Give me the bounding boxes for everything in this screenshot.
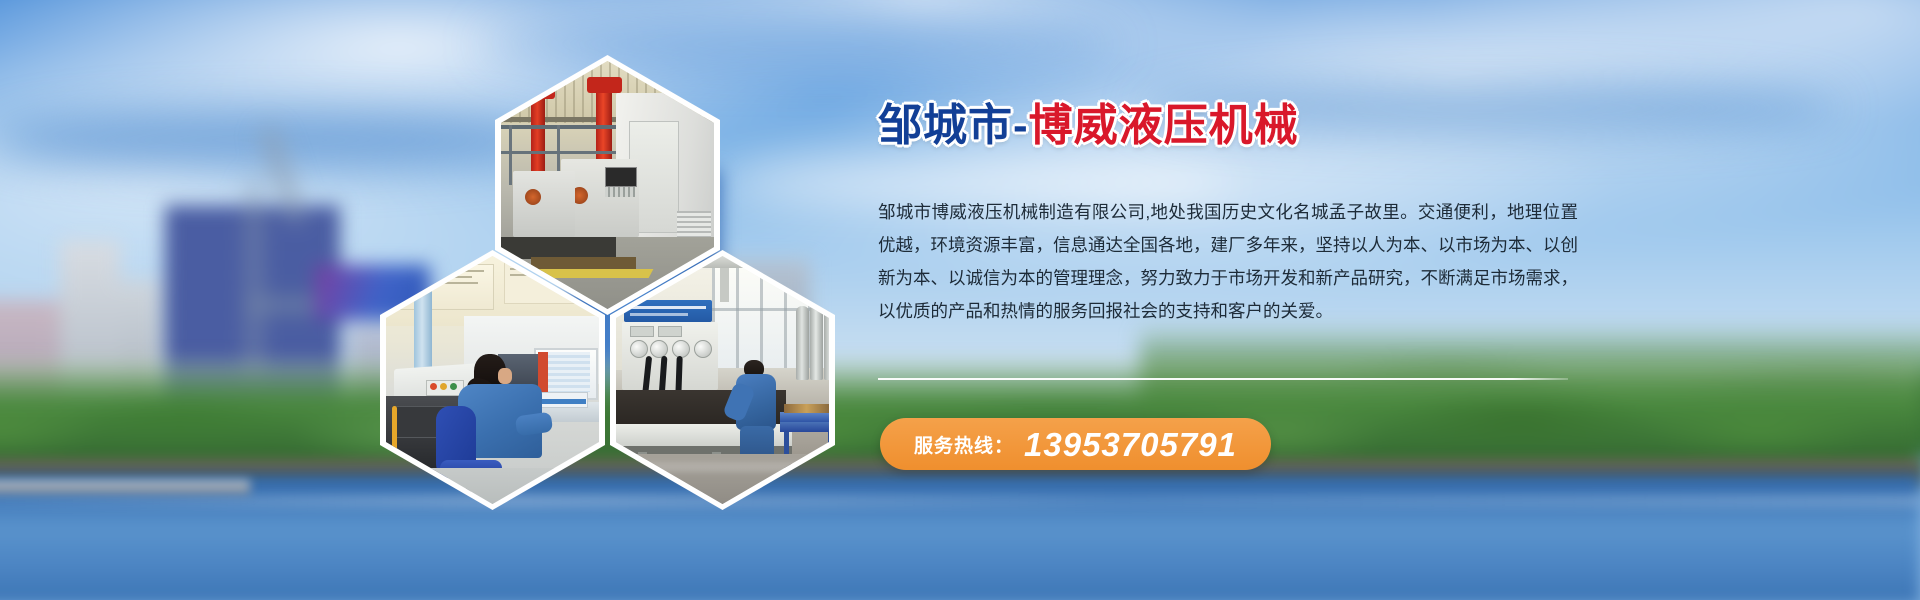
instrument-indicator (450, 383, 457, 390)
tool-cart-top (780, 412, 829, 422)
photo-canvas (501, 61, 714, 309)
cylinder-cap (523, 83, 555, 99)
red-hydraulic-cylinder (531, 89, 545, 181)
cart-tools (784, 404, 829, 413)
cart-leg (828, 432, 829, 458)
storage-box-stripe (536, 399, 586, 404)
photo-canvas (386, 256, 599, 504)
gas-cylinder (810, 304, 823, 380)
gas-cylinder (796, 306, 809, 380)
lab-floor (386, 468, 599, 504)
ceiling-duct (686, 256, 829, 268)
notice-line (406, 276, 472, 278)
gas-cylinder (824, 308, 829, 380)
notice-line (406, 282, 478, 284)
machine-vent (677, 211, 711, 239)
background-pier (0, 480, 250, 494)
instrument-indicator (430, 383, 437, 390)
machine-handwheel (525, 189, 541, 205)
orange-cable (392, 406, 397, 482)
status-light (697, 97, 707, 105)
background-water (0, 474, 1920, 600)
notice-line (406, 270, 484, 272)
title-accent: 博威液压机械 (1029, 101, 1299, 150)
hotline-label: 服务热线： (914, 431, 1014, 458)
instrument-indicator (440, 383, 447, 390)
hex-photo-test-bench-image (616, 256, 829, 504)
page-title: 邹城市-博威液压机械 (878, 104, 1598, 148)
company-description: 邹城市博威液压机械制造有限公司,地处我国历史文化名城孟子故里。交通便利，地理位置… (878, 196, 1578, 328)
cylinder-cap (587, 77, 622, 93)
cnc-machine-small (513, 171, 575, 237)
cart-wheel (824, 456, 829, 468)
hex-photo-cnc-workshop-image (501, 61, 714, 309)
pressure-gauge (672, 340, 690, 358)
water-highlight (0, 496, 1920, 506)
signboard-text-line (630, 306, 706, 309)
title-primary: 邹城市- (878, 101, 1029, 150)
monitor-screen-accent (538, 352, 548, 392)
construction-crane (170, 130, 400, 220)
photo-canvas (616, 256, 829, 504)
duct-drop (720, 268, 729, 302)
pressure-gauge (630, 340, 648, 358)
content-divider (878, 378, 1568, 380)
beam-post (509, 125, 512, 185)
hexagon-photo-cluster (370, 55, 840, 545)
company-banner: 邹城市-博威液压机械 邹城市博威液压机械制造有限公司,地处我国历史文化名城孟子故… (0, 0, 1920, 600)
cabinet-switch (658, 326, 682, 337)
hotline-button[interactable]: 服务热线： 13953705791 (880, 418, 1271, 470)
machine-base-shadow (501, 237, 616, 259)
pressure-gauge (694, 340, 712, 358)
floor-reflection (616, 462, 829, 472)
worker-arm (515, 412, 553, 437)
signboard-text-line (630, 313, 688, 316)
construction-crane-mast (250, 180, 258, 380)
hotline-number: 13953705791 (1024, 428, 1237, 461)
blue-signboard (624, 300, 712, 322)
cabinet-switch (630, 326, 654, 337)
banner-text-content: 邹城市-博威液压机械 邹城市博威液压机械制造有限公司,地处我国历史文化名城孟子故… (878, 104, 1598, 346)
control-panel-screen (605, 167, 637, 187)
tool-cart-shelf (780, 422, 829, 432)
hex-photo-inspection-lab-image (386, 256, 599, 504)
worker-face (498, 368, 512, 384)
control-panel-buttons (605, 187, 635, 197)
